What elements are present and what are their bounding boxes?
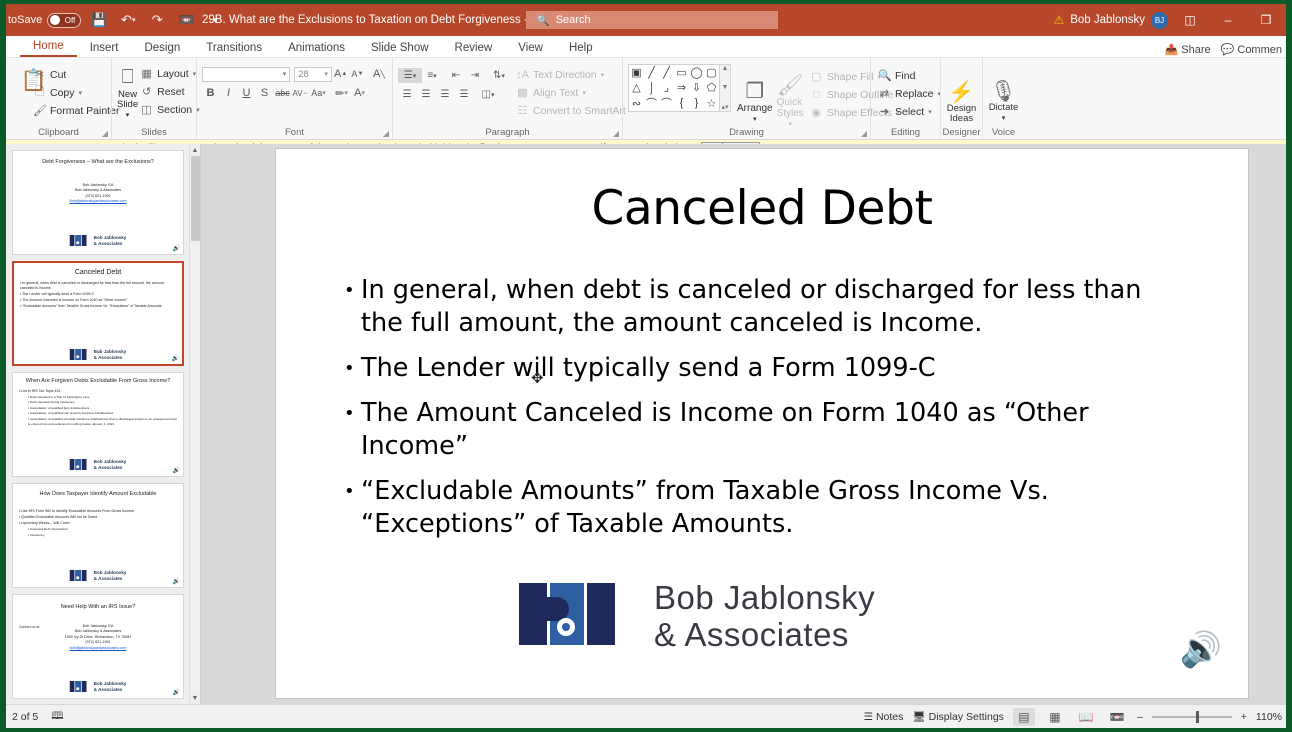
right-brace-shape-icon[interactable]: } bbox=[689, 95, 704, 111]
tab-review[interactable]: Review bbox=[442, 40, 506, 57]
reading-view-icon[interactable]: 📖 bbox=[1075, 708, 1097, 726]
font-dialog-launcher[interactable]: ◢ bbox=[383, 129, 389, 138]
thumbnail-bullet: • Qualified Excludable Amounts Will not … bbox=[19, 515, 177, 520]
bj-logo-icon bbox=[70, 459, 92, 470]
convert-smartart-label: Convert to SmartArt bbox=[533, 105, 626, 117]
quick-access-toolbar: toSave Off 💾 ↶▾ ↷ 📼 ▾ bbox=[6, 9, 226, 31]
text-direction-button[interactable]: ↕A Text Direction ▾ bbox=[514, 66, 637, 83]
search-placeholder: Search bbox=[556, 14, 591, 26]
shape-fill-label: Shape Fill bbox=[827, 71, 874, 83]
thumbnail-subbullet-text: Debt canceled in a Title 11 bankruptcy c… bbox=[30, 395, 90, 399]
ribbon-group-clipboard: 📋 ✂ Cut 🗋 Copy ▾ 🖌 Format Pai bbox=[6, 58, 111, 139]
justify-button[interactable]: ☰ bbox=[455, 87, 473, 102]
char-spacing-label: AV bbox=[292, 89, 302, 98]
bj-logo-icon bbox=[519, 583, 643, 650]
thumbnail-bullet-text: The Lender will typically send a Form 10… bbox=[22, 292, 94, 296]
ribbon-group-drawing: ▣ ╱ ╱ ▭ ◯ ▢ △ ⌡ ⌟ ⇒ ⇩ ⬠ ∾ ⌒ ⌒ bbox=[622, 58, 870, 139]
tab-design[interactable]: Design bbox=[131, 40, 193, 57]
bj-logo-svg bbox=[70, 235, 92, 246]
cut-label: Cut bbox=[50, 69, 66, 81]
zoom-in-button[interactable]: + bbox=[1241, 711, 1247, 723]
autosave-knob bbox=[50, 15, 60, 25]
bullet-glyph: • bbox=[344, 475, 361, 541]
thumbnail-bullet-text: Qualified Excludable Amounts Will not be… bbox=[21, 515, 97, 519]
tab-slide-show[interactable]: Slide Show bbox=[358, 40, 442, 57]
thumbnail-subbullet-text: Cancellation of qualified principal resi… bbox=[28, 417, 177, 426]
bullets-button[interactable]: ☰▾ bbox=[398, 68, 422, 83]
font-color-button[interactable]: A▾ bbox=[351, 85, 368, 101]
thumbnail-subbullet-text: Cancellation of qualified real property … bbox=[30, 411, 113, 415]
audio-speaker-icon: 🔊 bbox=[173, 245, 180, 252]
align-right-button[interactable]: ☰ bbox=[436, 87, 454, 102]
thumbnail-bullet: • “Excludable Amounts” from Taxable Gros… bbox=[20, 304, 176, 309]
bj-logo-svg bbox=[70, 570, 92, 581]
align-text-label: Align Text bbox=[533, 87, 578, 99]
logo-line-1: Bob Jablonsky bbox=[94, 349, 127, 354]
text-direction-label: Text Direction bbox=[533, 69, 597, 81]
thumbnail-subbullet: ▪ Cancellation of qualified principal re… bbox=[19, 417, 177, 426]
ribbon-right-actions: 📤 Share 💬 Commen bbox=[1164, 43, 1282, 56]
slide-logo-text: Bob Jablonsky & Associates bbox=[654, 579, 875, 653]
scroll-up-icon[interactable]: ▲ bbox=[722, 65, 729, 72]
thumbnail-email-link[interactable]: Bob@jablonskyandassociates.com bbox=[13, 199, 183, 205]
section-button[interactable]: ◫ Section ▾ bbox=[138, 101, 204, 118]
find-button[interactable]: 🔍 Find bbox=[876, 67, 945, 84]
thumbnail-slide-2[interactable]: Canceled Debt • In general, when debt is… bbox=[12, 261, 184, 366]
logo-line-2: & Associates bbox=[654, 616, 875, 653]
thumbnail-bullet: • List in IRS Tax Topic 431 bbox=[19, 389, 177, 394]
thumbnail-subbullet: ▪ Cancellation of qualified farm indebte… bbox=[19, 406, 177, 411]
group-label-editing: Editing bbox=[871, 127, 940, 138]
numbering-button[interactable]: ≡▾ bbox=[423, 68, 441, 83]
autosave-switch[interactable]: Off bbox=[47, 13, 81, 28]
logo-line-1: Bob Jablonsky bbox=[94, 570, 127, 575]
slide-title[interactable]: Canceled Debt bbox=[276, 181, 1248, 236]
shapes-gallery[interactable]: ▣ ╱ ╱ ▭ ◯ ▢ △ ⌡ ⌟ ⇒ ⇩ ⬠ ∾ ⌒ ⌒ bbox=[628, 64, 720, 112]
tab-insert[interactable]: Insert bbox=[77, 40, 132, 57]
notes-button[interactable]: ☰ Notes bbox=[864, 711, 904, 723]
zoom-slider[interactable] bbox=[1152, 716, 1232, 718]
strikethrough-button[interactable]: abc bbox=[274, 85, 291, 101]
slide-bullet-text: The Lender will typically send a Form 10… bbox=[361, 352, 936, 385]
minimize-button[interactable]: – bbox=[1212, 5, 1244, 35]
thumbnail-bullet-text: Upcoming Weeks – Will Cover: bbox=[21, 521, 70, 525]
bold-button[interactable]: B bbox=[202, 85, 219, 101]
tab-animations[interactable]: Animations bbox=[275, 40, 358, 57]
zoom-out-button[interactable]: – bbox=[1137, 711, 1143, 723]
thumbnail-subbullet-text: Cancellation of qualified farm indebtedn… bbox=[30, 406, 89, 410]
quick-styles-icon: 🖌 bbox=[777, 75, 804, 97]
line-shape-icon[interactable]: ╱ bbox=[644, 65, 659, 80]
thumbnail-title: Need Help With an IRS Issue? bbox=[13, 595, 183, 612]
thumbnail-logo-text: Bob Jablonsky & Associates bbox=[94, 570, 127, 581]
ribbon-group-slides: ⎕ New Slide ▾ ▦ Layout ▾ ↺ Reset bbox=[111, 58, 196, 139]
thumbnail-subbullet: ▪ Debt canceled in a Title 11 bankruptcy… bbox=[19, 395, 177, 400]
scroll-down-icon[interactable]: ▼ bbox=[190, 692, 200, 704]
arrange-icon: ❐ bbox=[745, 81, 764, 103]
left-brace-shape-icon[interactable]: { bbox=[674, 95, 689, 111]
scrollbar-thumb[interactable] bbox=[191, 156, 200, 241]
line-spacing-button[interactable]: ⇅▾ bbox=[490, 68, 508, 83]
ribbon-group-font: ▾ 28 ▾ A▲ A▼ A╲ B I U S abc AV↔ bbox=[196, 58, 392, 139]
audio-speaker-icon: 🔊 bbox=[172, 355, 179, 362]
autosave-label: toSave bbox=[8, 14, 42, 26]
align-center-button[interactable]: ☰ bbox=[417, 87, 435, 102]
star-shape-icon[interactable]: ☆ bbox=[704, 95, 719, 111]
mouse-cursor-move-icon: ✥ bbox=[531, 371, 544, 386]
normal-view-icon[interactable]: ▤ bbox=[1013, 708, 1035, 726]
decrease-indent-button[interactable]: ⇤ bbox=[447, 68, 465, 83]
increase-indent-button[interactable]: ⇥ bbox=[466, 68, 484, 83]
shape-outline-icon: □ bbox=[810, 89, 823, 101]
tab-home[interactable]: Home bbox=[20, 38, 77, 57]
thumbnail-bullet-text: The Amount Canceled is Income on Form 10… bbox=[22, 298, 127, 302]
thumbnail-subbullet-text: Insolvency bbox=[30, 533, 45, 537]
thumbnail-title: Debt Forgiveness – What are the Exclusio… bbox=[13, 151, 183, 167]
status-bar-left: 2 of 5 🕮 bbox=[6, 708, 64, 726]
powerpoint-window: toSave Off 💾 ↶▾ ↷ 📼 ▾ 29B. What are the … bbox=[6, 4, 1286, 728]
avatar[interactable]: BJ bbox=[1151, 12, 1168, 29]
section-icon: ◫ bbox=[140, 103, 153, 116]
align-text-icon: ▩ bbox=[516, 86, 529, 99]
logo-line-1: Bob Jablonsky bbox=[654, 579, 875, 616]
replace-icon: ⇄ bbox=[878, 87, 891, 100]
group-label-voice: Voice bbox=[983, 127, 1024, 138]
share-label: Share bbox=[1181, 44, 1210, 56]
thumbnail-slide-3[interactable]: When Are Forgiven Debts Excludable From … bbox=[12, 372, 184, 477]
thumbnail-logo: Bob Jablonsky & Associates bbox=[70, 349, 127, 360]
ribbon: 📋 ✂ Cut 🗋 Copy ▾ 🖌 Format Pai bbox=[6, 58, 1286, 140]
slide-bullet-text: In general, when debt is canceled or dis… bbox=[361, 274, 1174, 340]
slide-bullet: • The Amount Canceled is Income on Form … bbox=[344, 397, 1174, 463]
slide-bullet-text: The Amount Canceled is Income on Form 10… bbox=[361, 397, 1174, 463]
title-bar-right: ⚠ Bob Jablonsky BJ ◫ – ❐ bbox=[1053, 4, 1286, 36]
logo-line-2: & Associates bbox=[94, 355, 127, 360]
group-label-paragraph: Paragraph bbox=[393, 127, 622, 138]
ribbon-group-editing: 🔍 Find ⇄ Replace ▾ ➜ Select ▾ Editing bbox=[870, 58, 940, 139]
bj-logo-icon bbox=[70, 349, 92, 360]
thumbnail-title: Canceled Debt bbox=[14, 263, 182, 277]
thumbnail-bullet-text: In general, when debt is canceled or dis… bbox=[20, 281, 164, 290]
share-button[interactable]: 📤 Share bbox=[1164, 43, 1210, 56]
text-direction-icon: ↕A bbox=[516, 69, 529, 81]
tab-view[interactable]: View bbox=[505, 40, 556, 57]
thumbnail-email-link[interactable]: bob@jablonskyandassociates.com bbox=[13, 646, 183, 652]
reset-icon: ↺ bbox=[140, 85, 153, 98]
thumbnail-slide-4[interactable]: How Does Taxpayer Identify Amount Exclud… bbox=[12, 483, 184, 588]
logo-line-2: & Associates bbox=[94, 241, 127, 246]
clear-formatting-button[interactable]: A╲ bbox=[371, 66, 387, 82]
convert-to-smartart-button[interactable]: ☷ Convert to SmartArt ▾ bbox=[514, 102, 637, 119]
thumbnail-logo-text: Bob Jablonsky & Associates bbox=[94, 235, 127, 246]
ribbon-display-options-icon[interactable]: ◫ bbox=[1174, 5, 1206, 35]
align-text-button[interactable]: ▩ Align Text ▾ bbox=[514, 84, 637, 101]
textbox-shape-icon[interactable]: ▣ bbox=[629, 65, 644, 80]
copy-icon: 🗋 bbox=[33, 83, 46, 102]
format-painter-button[interactable]: 🖌 Format Painter bbox=[31, 102, 123, 119]
bj-logo-icon bbox=[70, 235, 92, 246]
shape-effects-icon: ◉ bbox=[810, 106, 823, 119]
microphone-icon: 🎙 bbox=[990, 81, 1017, 103]
thumbnail-title: When Are Forgiven Debts Excludable From … bbox=[13, 373, 183, 386]
group-label-designer: Designer bbox=[941, 127, 982, 138]
status-bar-right: ☰ Notes 🖥 Display Settings ▤ ▦ 📖 📼 – + 1… bbox=[864, 708, 1282, 726]
logo-line-2: & Associates bbox=[94, 687, 127, 692]
slide-bullet-text: “Excludable Amounts” from Taxable Gross … bbox=[361, 475, 1174, 541]
tab-transitions[interactable]: Transitions bbox=[193, 40, 275, 57]
thumbnail-slide-5[interactable]: Need Help With an IRS Issue? Contact us … bbox=[12, 594, 184, 699]
select-button[interactable]: ➜ Select ▾ bbox=[876, 103, 945, 120]
elbow-arrow-icon[interactable]: ⌟ bbox=[659, 80, 674, 95]
grow-font-label: A bbox=[334, 68, 341, 80]
thumbnail-bullet: • The Lender will typically send a Form … bbox=[20, 292, 176, 297]
group-label-font: Font bbox=[197, 127, 392, 138]
font-size-input[interactable]: 28 ▾ bbox=[294, 67, 332, 82]
thumbnail-bullet: • The Amount Canceled is Income on Form … bbox=[20, 298, 176, 303]
thumbnail-logo-text: Bob Jablonsky & Associates bbox=[94, 681, 127, 692]
triangle-shape-icon[interactable]: △ bbox=[629, 80, 644, 95]
thumbnail-subbullet-text: Canceled Debt “Exceptions” bbox=[30, 527, 69, 531]
display-settings-button[interactable]: 🖥 Display Settings bbox=[912, 710, 1004, 723]
character-spacing-button[interactable]: AV↔ bbox=[292, 85, 309, 101]
arrow-shape-icon[interactable]: ╱ bbox=[659, 65, 674, 80]
thumbnail-logo: Bob Jablonsky & Associates bbox=[70, 681, 127, 692]
thumbnail-contact-label: Contact us at: bbox=[19, 625, 40, 629]
font-color-label: A bbox=[354, 87, 361, 99]
slide-canvas-area: Canceled Debt • In general, when debt is… bbox=[201, 144, 1286, 704]
pentagon-shape-icon[interactable]: ⬠ bbox=[704, 80, 719, 95]
logo-line-2: & Associates bbox=[94, 576, 127, 581]
rectangle-shape-icon[interactable]: ▭ bbox=[674, 65, 689, 80]
right-arrow-shape-icon[interactable]: ⇒ bbox=[674, 80, 689, 95]
reset-button[interactable]: ↺ Reset bbox=[138, 83, 204, 100]
slide-bullet: • The Lender will typically send a Form … bbox=[344, 352, 1174, 385]
rounded-rect-shape-icon[interactable]: ▢ bbox=[704, 65, 719, 80]
thumbnail-subbullet: ▪ Debt canceled during insolvency bbox=[19, 400, 177, 405]
font-name-input[interactable]: ▾ bbox=[202, 67, 290, 82]
bj-logo-svg bbox=[70, 459, 92, 470]
elbow-connector-icon[interactable]: ⌡ bbox=[644, 80, 659, 95]
replace-label: Replace bbox=[895, 88, 934, 100]
scroll-down-icon[interactable]: ▼ bbox=[722, 84, 729, 91]
slideshow-view-icon[interactable]: 📼 bbox=[1106, 708, 1128, 726]
search-input[interactable]: 🔍 Search bbox=[526, 11, 778, 29]
paintbrush-icon: 🖌 bbox=[33, 104, 46, 117]
dictate-label: Dictate bbox=[989, 103, 1019, 113]
drawing-dialog-launcher[interactable]: ◢ bbox=[861, 129, 867, 138]
start-presentation-icon[interactable]: 📼 bbox=[175, 9, 197, 31]
thumbnail-subbullet: ▪ Cancellation of qualified real propert… bbox=[19, 411, 177, 416]
autosave-state: Off bbox=[65, 16, 76, 25]
chevron-down-icon[interactable]: ▾ bbox=[324, 70, 328, 78]
slide-sorter-icon[interactable]: ▦ bbox=[1044, 708, 1066, 726]
thumbnail-bullet: • In general, when debt is canceled or d… bbox=[20, 281, 176, 291]
bj-logo-svg bbox=[70, 681, 92, 692]
thumbnail-bullet-text: “Excludable Amounts” from Taxable Gross … bbox=[22, 304, 162, 308]
autosave-toggle[interactable]: toSave Off bbox=[8, 13, 81, 28]
group-label-clipboard: Clipboard bbox=[6, 127, 111, 138]
copy-label: Copy bbox=[50, 87, 75, 99]
warning-icon[interactable]: ⚠ bbox=[1053, 13, 1064, 27]
group-label-slides: Slides bbox=[112, 127, 196, 138]
chevron-down-icon[interactable]: ▾ bbox=[79, 89, 83, 97]
current-slide[interactable]: Canceled Debt • In general, when debt is… bbox=[276, 149, 1248, 698]
thumbnail-slide-1[interactable]: Debt Forgiveness – What are the Exclusio… bbox=[12, 150, 184, 255]
bj-logo-icon bbox=[70, 681, 92, 692]
replace-button[interactable]: ⇄ Replace ▾ bbox=[876, 85, 945, 102]
ribbon-tabs: Home Insert Design Transitions Animation… bbox=[6, 36, 1286, 58]
thumbnail-bullet-text: List in IRS Tax Topic 431 bbox=[21, 389, 60, 393]
select-label: Select bbox=[895, 106, 924, 118]
search-icon: 🔍 bbox=[878, 69, 891, 82]
bj-logo-icon bbox=[70, 570, 92, 581]
curve-shape-icon[interactable]: ⌒ bbox=[644, 95, 659, 111]
format-painter-label: Format Painter bbox=[50, 105, 119, 117]
find-label: Find bbox=[895, 70, 915, 82]
account-name[interactable]: Bob Jablonsky bbox=[1070, 14, 1145, 26]
comments-label: Commen bbox=[1237, 44, 1282, 56]
thumbnail-title: How Does Taxpayer Identify Amount Exclud… bbox=[13, 484, 183, 499]
change-case-label: Aa bbox=[311, 88, 322, 98]
search-icon: 🔍 bbox=[536, 14, 550, 27]
scribble-shape-icon[interactable]: ∾ bbox=[629, 95, 644, 111]
notes-label: Notes bbox=[876, 711, 903, 723]
redo-icon[interactable]: ↷ bbox=[146, 9, 168, 31]
arrange-label: Arrange bbox=[737, 103, 773, 114]
slide-body-placeholder[interactable]: • In general, when debt is canceled or d… bbox=[344, 274, 1174, 553]
audio-speaker-icon: 🔊 bbox=[173, 578, 180, 585]
thumbnail-logo: Bob Jablonsky & Associates bbox=[70, 570, 127, 581]
slide-logo[interactable]: Bob Jablonsky & Associates bbox=[519, 579, 875, 653]
italic-button[interactable]: I bbox=[220, 85, 237, 101]
chevron-down-icon[interactable]: ▾ bbox=[283, 70, 287, 78]
thumbnail-subbullet: ▪ Canceled Debt “Exceptions” bbox=[19, 527, 177, 532]
layout-icon: ▦ bbox=[140, 67, 153, 80]
thumbnail-logo-text: Bob Jablonsky & Associates bbox=[94, 349, 127, 360]
zoom-slider-knob[interactable] bbox=[1196, 711, 1199, 723]
shapes-scrollbar[interactable]: ▲ ▼ ▴▾ bbox=[720, 64, 731, 112]
grow-font-button[interactable]: A▲ bbox=[333, 66, 349, 82]
group-label-drawing: Drawing bbox=[623, 127, 870, 138]
workspace: Debt Forgiveness – What are the Exclusio… bbox=[6, 144, 1286, 704]
bullet-glyph: • bbox=[344, 352, 361, 385]
audio-speaker-icon: 🔊 bbox=[173, 689, 180, 696]
smartart-icon: ☷ bbox=[516, 104, 529, 117]
design-ideas-label: Design Ideas bbox=[946, 104, 977, 124]
shapes-more-icon[interactable]: ▴▾ bbox=[721, 103, 728, 111]
bj-logo-svg bbox=[70, 349, 92, 360]
oval-shape-icon[interactable]: ◯ bbox=[689, 65, 704, 80]
logo-line-1: Bob Jablonsky bbox=[94, 681, 127, 686]
logo-line-1: Bob Jablonsky bbox=[94, 459, 127, 464]
scroll-up-icon[interactable]: ▲ bbox=[190, 144, 200, 156]
cursor-icon: ➜ bbox=[878, 105, 891, 118]
thumbnail-bullet: • Upcoming Weeks – Will Cover: bbox=[19, 521, 177, 526]
logo-line-2: & Associates bbox=[94, 465, 127, 470]
display-settings-label: Display Settings bbox=[929, 711, 1004, 723]
paragraph-dialog-launcher[interactable]: ◢ bbox=[613, 129, 619, 138]
layout-label: Layout bbox=[157, 68, 189, 80]
thumbnail-bullet-text: Use IRS Form 982 to Identify Excludable … bbox=[21, 509, 134, 513]
scissors-icon: ✂ bbox=[33, 68, 46, 81]
new-slide-button[interactable]: New Slide ▾ bbox=[117, 90, 138, 121]
thumbnail-scrollbar[interactable]: ▲ ▼ bbox=[189, 144, 200, 704]
layout-button[interactable]: ▦ Layout ▾ bbox=[138, 65, 204, 82]
ribbon-group-paragraph: ☰▾ ≡▾ ⇤ ⇥ ⇅▾ ☰ ☰ ☰ ☰ ◫▾ bbox=[392, 58, 622, 139]
restore-button[interactable]: ❐ bbox=[1250, 5, 1282, 35]
thumbnail-logo: Bob Jablonsky & Associates bbox=[70, 235, 127, 246]
thumbnail-subbullet: ▪ Insolvency bbox=[19, 533, 177, 538]
accessibility-icon[interactable]: 🕮 bbox=[51, 708, 63, 726]
font-size-value: 28 bbox=[298, 69, 309, 80]
copy-button[interactable]: 🗋 Copy ▾ bbox=[31, 84, 123, 101]
slide-thumbnail-pane[interactable]: Debt Forgiveness – What are the Exclusio… bbox=[6, 144, 201, 704]
section-label: Section bbox=[157, 104, 192, 116]
title-bar: toSave Off 💾 ↶▾ ↷ 📼 ▾ 29B. What are the … bbox=[6, 4, 1286, 36]
shape-fill-icon: ▢ bbox=[810, 70, 823, 83]
quick-styles-label: Quick Styles bbox=[777, 97, 804, 119]
design-ideas-icon: ⚡ bbox=[948, 82, 974, 104]
align-left-button[interactable]: ☰ bbox=[398, 87, 416, 102]
new-slide-icon: ⎕ bbox=[122, 66, 134, 89]
bullet-glyph: • bbox=[344, 397, 361, 463]
ribbon-group-voice: 🎙 Dictate ▾ Voice bbox=[982, 58, 1024, 139]
clipboard-dialog-launcher[interactable]: ◢ bbox=[102, 129, 108, 138]
slide-counter[interactable]: 2 of 5 bbox=[12, 711, 38, 723]
text-highlight-color-button[interactable]: ✏▾ bbox=[333, 85, 350, 101]
thumbnail-bullet: • Use IRS Form 982 to Identify Excludabl… bbox=[19, 509, 177, 514]
bj-logo-svg bbox=[519, 583, 643, 645]
new-slide-label: New Slide bbox=[117, 89, 138, 110]
comments-button[interactable]: 💬 Commen bbox=[1221, 43, 1282, 56]
down-arrow-shape-icon[interactable]: ⇩ bbox=[689, 80, 704, 95]
zoom-level[interactable]: 110% bbox=[1256, 711, 1282, 723]
slide-bullet: • In general, when debt is canceled or d… bbox=[344, 274, 1174, 340]
audio-speaker-icon[interactable]: 🔊 bbox=[1180, 630, 1222, 670]
status-bar: 2 of 5 🕮 ☰ Notes 🖥 Display Settings ▤ ▦ … bbox=[6, 704, 1286, 728]
thumbnail-logo: Bob Jablonsky & Associates bbox=[70, 459, 127, 470]
logo-line-1: Bob Jablonsky bbox=[94, 235, 127, 240]
bullet-glyph: • bbox=[344, 274, 361, 340]
shrink-font-button[interactable]: A▼ bbox=[350, 66, 366, 82]
text-shadow-button[interactable]: S bbox=[256, 85, 273, 101]
columns-button[interactable]: ◫▾ bbox=[479, 87, 497, 102]
save-icon[interactable]: 💾 bbox=[88, 9, 110, 31]
change-case-button[interactable]: Aa▾ bbox=[310, 85, 327, 101]
tab-help[interactable]: Help bbox=[556, 40, 606, 57]
ribbon-group-designer: ⚡ Design Ideas Designer bbox=[940, 58, 982, 139]
undo-icon[interactable]: ↶▾ bbox=[117, 9, 139, 31]
reset-label: Reset bbox=[157, 86, 184, 98]
underline-button[interactable]: U bbox=[238, 85, 255, 101]
slide-bullet: • “Excludable Amounts” from Taxable Gros… bbox=[344, 475, 1174, 541]
audio-speaker-icon: 🔊 bbox=[173, 467, 180, 474]
thumbnail-logo-text: Bob Jablonsky & Associates bbox=[94, 459, 127, 470]
thumbnail-subbullet-text: Debt canceled during insolvency bbox=[30, 400, 75, 404]
arc-shape-icon[interactable]: ⌒ bbox=[659, 95, 674, 111]
cut-button[interactable]: ✂ Cut bbox=[31, 66, 123, 83]
